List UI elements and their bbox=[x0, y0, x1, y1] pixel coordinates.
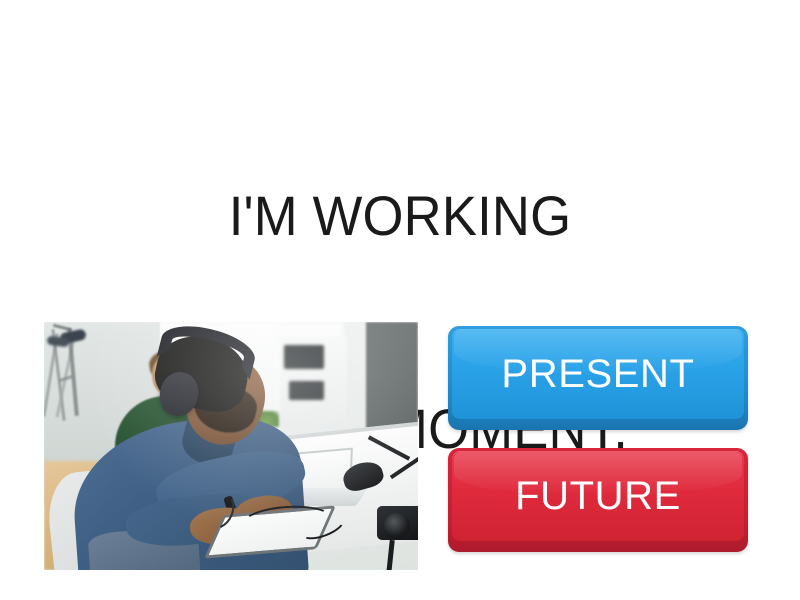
question-line-1: I'M WORKING bbox=[24, 180, 776, 251]
shelf-box bbox=[289, 381, 324, 401]
office-photo bbox=[44, 322, 418, 570]
answer-label-future: FUTURE bbox=[448, 448, 748, 552]
shelf-box bbox=[284, 345, 324, 369]
question-image bbox=[44, 322, 418, 570]
answer-label-present: PRESENT bbox=[448, 326, 748, 430]
answer-options: PRESENT FUTURE bbox=[448, 326, 748, 552]
quiz-slide: I'M WORKING AT THIS MOMENT. PRESENT OR F… bbox=[0, 0, 800, 600]
photo-shelf bbox=[280, 337, 347, 436]
answer-button-future[interactable]: FUTURE bbox=[448, 448, 748, 552]
answer-button-present[interactable]: PRESENT bbox=[448, 326, 748, 430]
bicycle-frame-icon bbox=[53, 323, 72, 330]
